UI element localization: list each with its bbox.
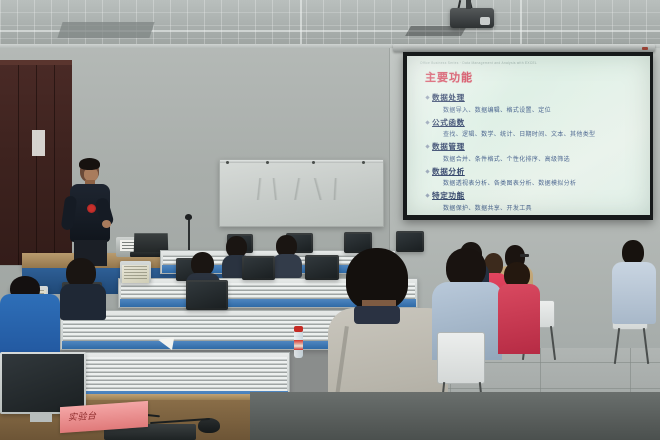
slide-item-subtext: 数据合并、条件格式、个性化排序、高级筛选 <box>443 154 641 163</box>
monitor-stand <box>30 412 52 422</box>
slide-header-line: Office Business Series · Data Management… <box>420 61 641 65</box>
whiteboard-clip <box>226 161 229 164</box>
slide-bullet-list: 数据处理 数据导入、数据编辑、格式设置、定位 公式函数 查找、逻辑、数学、统计、… <box>426 92 641 212</box>
student <box>272 235 302 277</box>
wood-wall-trim <box>0 60 72 65</box>
classroom-photo-scene: Office Business Series · Data Management… <box>0 0 660 440</box>
attendee <box>612 240 656 335</box>
student-body <box>0 294 60 356</box>
bench-blue-strip <box>62 341 358 349</box>
whiteboard-clip <box>362 161 365 164</box>
diamond-bullet-icon <box>425 169 429 173</box>
screen-roller-casing[interactable] <box>393 44 655 52</box>
microphone-head-icon <box>185 214 192 220</box>
projection-screen: Office Business Series · Data Management… <box>403 52 653 220</box>
slide-item-heading: 数据分析 <box>432 166 465 177</box>
ceiling-vent-panel <box>57 22 154 38</box>
slide-item-subtext: 数据导入、数据编辑、格式设置、定位 <box>443 105 641 114</box>
attendee-collar <box>354 306 400 324</box>
lab-monitor-foreground[interactable] <box>0 352 86 414</box>
attendee-foreground-red <box>498 262 540 352</box>
slide-item: 特定功能 数据保护、数据共享、开发工具 <box>426 190 641 212</box>
whiteboard-clip <box>266 161 269 164</box>
attendee-body <box>612 262 656 324</box>
student-body <box>60 284 106 320</box>
projector-lens <box>480 17 490 25</box>
whiteboard-rail <box>220 160 383 163</box>
slide-item-heading: 数据管理 <box>432 141 465 152</box>
presenter-shirt-logo <box>87 204 96 213</box>
roller-indicator <box>642 47 648 50</box>
ceiling-projector <box>450 8 494 28</box>
folding-chair <box>437 332 485 384</box>
student-foreground <box>0 276 60 356</box>
whiteboard-clip <box>312 161 315 164</box>
slide-item-heading: 数据处理 <box>432 92 465 103</box>
presenter <box>60 160 120 265</box>
slide-item-subtext: 查找、逻辑、数学、统计、日期时间、文本、其他类型 <box>443 129 641 138</box>
wall-notice-paper <box>32 130 45 156</box>
student-foreground <box>60 258 106 318</box>
bottle-label <box>294 340 303 350</box>
lab-monitor[interactable] <box>186 280 228 310</box>
slide-title: 主要功能 <box>425 69 641 85</box>
lab-monitor[interactable] <box>120 261 151 283</box>
diamond-bullet-icon <box>425 144 429 148</box>
bench-louver-panel <box>63 315 357 341</box>
slide-item: 数据管理 数据合并、条件格式、个性化排序、高级筛选 <box>426 141 641 163</box>
lab-monitor[interactable] <box>242 256 275 280</box>
student-body <box>272 254 302 278</box>
bottle-cap <box>294 326 303 332</box>
slide-item: 数据处理 数据导入、数据编辑、格式设置、定位 <box>426 92 641 114</box>
slide-item-heading: 特定功能 <box>432 190 465 201</box>
attendee-body <box>498 284 540 354</box>
ceiling-beam <box>520 0 522 46</box>
diamond-bullet-icon <box>425 95 429 99</box>
whiteboard <box>219 159 384 227</box>
slide-item-subtext: 数据保护、数据共享、开发工具 <box>443 203 641 212</box>
foreground-partition <box>250 392 660 440</box>
ceiling-beam <box>300 0 302 46</box>
presenter-hand <box>102 220 111 228</box>
whiteboard-writing <box>252 178 362 200</box>
slide-item: 公式函数 查找、逻辑、数学、统计、日期时间、文本、其他类型 <box>426 117 641 139</box>
slide-item: 数据分析 数据透视表分析、各类图表分析、数据模拟分析 <box>426 166 641 188</box>
presentation-slide: Office Business Series · Data Management… <box>407 56 650 215</box>
slide-item-heading: 公式函数 <box>432 117 465 128</box>
projector-mount <box>466 0 471 9</box>
attendee-glasses-icon <box>520 254 529 257</box>
diamond-bullet-icon <box>425 120 429 124</box>
slide-item-subtext: 数据透视表分析、各类图表分析、数据模拟分析 <box>443 178 641 187</box>
presenter-hair <box>79 158 100 170</box>
diamond-bullet-icon <box>425 193 429 197</box>
screen-surface: Office Business Series · Data Management… <box>407 56 650 215</box>
